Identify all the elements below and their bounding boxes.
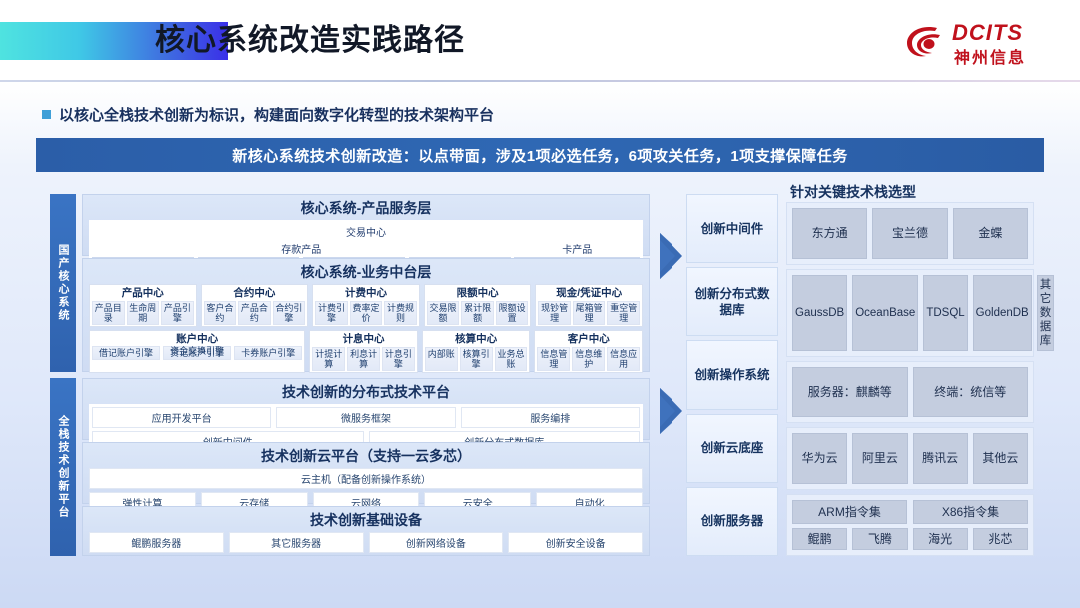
center-card[interactable]: 客户中心 信息管理 信息维护 信息应用 [534, 330, 643, 373]
vendor-cell[interactable]: 东方通 [792, 208, 867, 259]
biz-row-1: 产品中心 产品目录 生命周期 产品引擎 合约中心 客户合约 产品合约 合约引擎 [83, 284, 649, 330]
center-item[interactable]: 计息引擎 [382, 347, 415, 371]
center-item[interactable]: 重空管理 [607, 301, 640, 325]
center-item[interactable]: 生命周期 [127, 301, 160, 325]
product-layer-title: 核心系统-产品服务层 [83, 195, 649, 220]
infra-item[interactable]: 鲲鹏服务器 [89, 532, 224, 553]
infrastructure-layer: 技术创新基础设备 鲲鹏服务器 其它服务器 创新网络设备 创新安全设备 [82, 506, 650, 556]
vendor-cell[interactable]: TDSQL [923, 275, 967, 351]
chip-vendors-row: 鲲鹏 飞腾 海光 兆芯 [792, 528, 1028, 550]
slide-body: 以核心全栈技术创新为标识，构建面向数字化转型的技术架构平台 新核心系统技术创新改… [0, 82, 1080, 608]
deposit-product-label: 存款产品 [92, 240, 510, 257]
center-item[interactable]: 内部账 [425, 347, 458, 371]
center-item[interactable]: 限额设置 [496, 301, 529, 325]
dist-platform-title: 技术创新的分布式技术平台 [83, 379, 649, 404]
instruction-set-row: ARM指令集 X86指令集 [792, 500, 1028, 524]
center-item[interactable]: 现钞管理 [538, 301, 571, 325]
account-center-card[interactable]: 账户中心 借记账户引擎 贷记账户引擎 卡券账户引擎 资金交换引擎 [89, 330, 305, 373]
vendor-cell[interactable]: 终端：统信等 [913, 367, 1029, 418]
center-item[interactable]: 借记账户引擎 [92, 346, 160, 360]
innovation-task-box[interactable]: 创新服务器 [686, 487, 778, 556]
biz-row-2: 账户中心 借记账户引擎 贷记账户引擎 卡券账户引擎 资金交换引擎 计息中心 计提… [83, 330, 649, 376]
page-title: 核心系统改造实践路径 [155, 20, 465, 62]
vendor-cell[interactable]: 宝兰德 [872, 208, 947, 259]
center-item[interactable]: 贷记账户引擎 [163, 346, 231, 360]
center-item[interactable]: 合约引擎 [273, 301, 306, 325]
card-product-label: 卡产品 [514, 240, 640, 257]
product-service-layer: 核心系统-产品服务层 交易中心 存款产品 个人活期 个人定期 对公存款 其他业务 [82, 194, 650, 256]
vertical-label-tech-platform: 全栈技术创新平台 [50, 378, 76, 556]
bullet-headline-text: 以核心全栈技术创新为标识，构建面向数字化转型的技术架构平台 [59, 104, 494, 125]
center-item[interactable]: 利息计算 [347, 347, 380, 371]
center-item[interactable]: 交易限额 [427, 301, 460, 325]
innovation-tasks-column: 创新中间件 创新分布式数据库 创新操作系统 创新云底座 创新服务器 [686, 194, 778, 556]
center-item[interactable]: 信息应用 [607, 347, 640, 371]
center-items: 借记账户引擎 贷记账户引擎 卡券账户引擎 资金交换引擎 [92, 346, 302, 360]
center-items: 客户合约 产品合约 合约引擎 [204, 301, 306, 325]
chip-cell[interactable]: 飞腾 [852, 528, 907, 550]
center-name: 账户中心 [92, 333, 302, 346]
cloud-platform: 技术创新云平台（支持一云多芯） 云主机（配备创新操作系统） 弹性计算 云存储 云… [82, 442, 650, 504]
bullet-square-icon [42, 110, 51, 119]
center-item[interactable]: 尾箱管理 [573, 301, 606, 325]
center-card[interactable]: 现金/凭证中心 现钞管理 尾箱管理 重空管理 [535, 284, 643, 327]
dist-row-1: 应用开发平台 微服务框架 服务编排 [92, 407, 640, 431]
center-item[interactable]: 产品目录 [92, 301, 125, 325]
center-item[interactable]: 计提计算 [312, 347, 345, 371]
logo-text-cn: 神州信息 [954, 44, 1026, 68]
center-item[interactable]: 计费规则 [384, 301, 417, 325]
instruction-set-cell[interactable]: ARM指令集 [792, 500, 907, 524]
center-card[interactable]: 限额中心 交易限额 累计限额 限额设置 [424, 284, 532, 327]
cloud-platform-title: 技术创新云平台（支持一云多芯） [83, 443, 649, 468]
vendor-cell[interactable]: 其它数据库 [1037, 275, 1055, 351]
infra-item[interactable]: 其它服务器 [229, 532, 364, 553]
innovation-task-box[interactable]: 创新中间件 [686, 194, 778, 263]
vendor-cell[interactable]: GoldenDB [973, 275, 1032, 351]
chip-cell[interactable]: 兆芯 [973, 528, 1028, 550]
chip-cell[interactable]: 鲲鹏 [792, 528, 847, 550]
database-vendors-group: GaussDB OceanBase TDSQL GoldenDB 其它数据库 [786, 269, 1034, 357]
os-vendors-group: 服务器：麒麟等 终端：统信等 [786, 361, 1034, 424]
center-items: 计费引擎 费率定价 计费规则 [315, 301, 417, 325]
center-items: 现钞管理 尾箱管理 重空管理 [538, 301, 640, 325]
cloud-host-bar[interactable]: 云主机（配备创新操作系统） [89, 468, 643, 489]
center-items: 内部账 核算引擎 业务总账 [425, 347, 528, 371]
page-header: 核心系统改造实践路径 DCITS 神州信息 [0, 0, 1080, 82]
logo-text-en: DCITS [952, 20, 1023, 46]
platform-item[interactable]: 应用开发平台 [92, 407, 271, 428]
business-middle-layer: 核心系统-业务中台层 产品中心 产品目录 生命周期 产品引擎 合约中心 客户合约… [82, 258, 650, 372]
vendor-cell[interactable]: 华为云 [792, 433, 847, 484]
server-arch-group: ARM指令集 X86指令集 鲲鹏 飞腾 海光 兆芯 [786, 494, 1034, 557]
chip-cell[interactable]: 海光 [913, 528, 968, 550]
center-card[interactable]: 核算中心 内部账 核算引擎 业务总账 [422, 330, 531, 373]
vendor-cell[interactable]: 金蝶 [953, 208, 1028, 259]
center-name: 客户中心 [537, 333, 640, 346]
infra-item[interactable]: 创新安全设备 [508, 532, 643, 553]
vendor-cell[interactable]: 其他云 [973, 433, 1028, 484]
center-items: 交易限额 累计限额 限额设置 [427, 301, 529, 325]
banner-text: 新核心系统技术创新改造：以点带面，涉及1项必选任务，6项攻关任务，1项支撑保障任… [232, 145, 848, 166]
center-items: 信息管理 信息维护 信息应用 [537, 347, 640, 371]
architecture-panel: 国产核心系统 全栈技术创新平台 核心系统-产品服务层 交易中心 存款产品 个人活… [50, 194, 650, 556]
center-name: 合约中心 [204, 287, 306, 300]
center-item[interactable]: 信息维护 [572, 347, 605, 371]
center-card[interactable]: 合约中心 客户合约 产品合约 合约引擎 [201, 284, 309, 327]
center-name: 计费中心 [315, 287, 417, 300]
instruction-set-cell[interactable]: X86指令集 [913, 500, 1028, 524]
center-item[interactable]: 产品引擎 [161, 301, 194, 325]
vendor-cell[interactable]: 阿里云 [852, 433, 907, 484]
center-item[interactable]: 产品合约 [238, 301, 271, 325]
vertical-label-core-system: 国产核心系统 [50, 194, 76, 372]
innovation-task-box[interactable]: 创新分布式数据库 [686, 267, 778, 336]
center-card[interactable]: 产品中心 产品目录 生命周期 产品引擎 [89, 284, 197, 327]
vendor-cell[interactable]: GaussDB [792, 275, 847, 351]
center-item[interactable]: 客户合约 [204, 301, 237, 325]
platform-item[interactable]: 微服务框架 [276, 407, 455, 428]
tech-stack-title: 针对关键技术栈选型 [790, 182, 916, 202]
center-item[interactable]: 费率定价 [350, 301, 383, 325]
center-items: 产品目录 生命周期 产品引擎 [92, 301, 194, 325]
center-card[interactable]: 计费中心 计费引擎 费率定价 计费规则 [312, 284, 420, 327]
center-name: 核算中心 [425, 333, 528, 346]
center-item[interactable]: 信息管理 [537, 347, 570, 371]
dcits-logo: DCITS 神州信息 [904, 18, 1044, 68]
transaction-center-label: 交易中心 [92, 223, 640, 240]
banner: 新核心系统技术创新改造：以点带面，涉及1项必选任务，6项攻关任务，1项支撑保障任… [36, 138, 1044, 172]
middleware-vendors-group: 东方通 宝兰德 金蝶 [786, 202, 1034, 265]
platform-item[interactable]: 服务编排 [461, 407, 640, 428]
center-name: 现金/凭证中心 [538, 287, 640, 300]
vendor-cell[interactable]: 服务器：麒麟等 [792, 367, 908, 418]
center-item[interactable]: 卡券账户引擎 [234, 346, 302, 360]
center-card[interactable]: 计息中心 计提计算 利息计算 计息引擎 [309, 330, 418, 373]
center-name: 限额中心 [427, 287, 529, 300]
distributed-tech-platform: 技术创新的分布式技术平台 应用开发平台 微服务框架 服务编排 创新中间件 创新分… [82, 378, 650, 440]
bullet-headline: 以核心全栈技术创新为标识，构建面向数字化转型的技术架构平台 [42, 104, 494, 125]
center-name: 计息中心 [312, 333, 415, 346]
infra-items-row: 鲲鹏服务器 其它服务器 创新网络设备 创新安全设备 [83, 532, 649, 557]
center-item[interactable]: 核算引擎 [460, 347, 493, 371]
infra-item[interactable]: 创新网络设备 [369, 532, 504, 553]
center-item[interactable]: 累计限额 [461, 301, 494, 325]
center-item[interactable]: 业务总账 [495, 347, 528, 371]
tech-stack-column: 东方通 宝兰德 金蝶 GaussDB OceanBase TDSQL Golde… [786, 202, 1034, 556]
dcits-logo-icon [904, 22, 946, 62]
innovation-task-box[interactable]: 创新操作系统 [686, 340, 778, 409]
center-item[interactable]: 计费引擎 [315, 301, 348, 325]
center-name: 产品中心 [92, 287, 194, 300]
cloud-vendors-group: 华为云 阿里云 腾讯云 其他云 [786, 427, 1034, 490]
vendor-cell[interactable]: OceanBase [852, 275, 918, 351]
infra-title: 技术创新基础设备 [83, 507, 649, 532]
center-items: 计提计算 利息计算 计息引擎 [312, 347, 415, 371]
biz-layer-title: 核心系统-业务中台层 [83, 259, 649, 284]
innovation-task-box[interactable]: 创新云底座 [686, 414, 778, 483]
vendor-cell[interactable]: 腾讯云 [913, 433, 968, 484]
